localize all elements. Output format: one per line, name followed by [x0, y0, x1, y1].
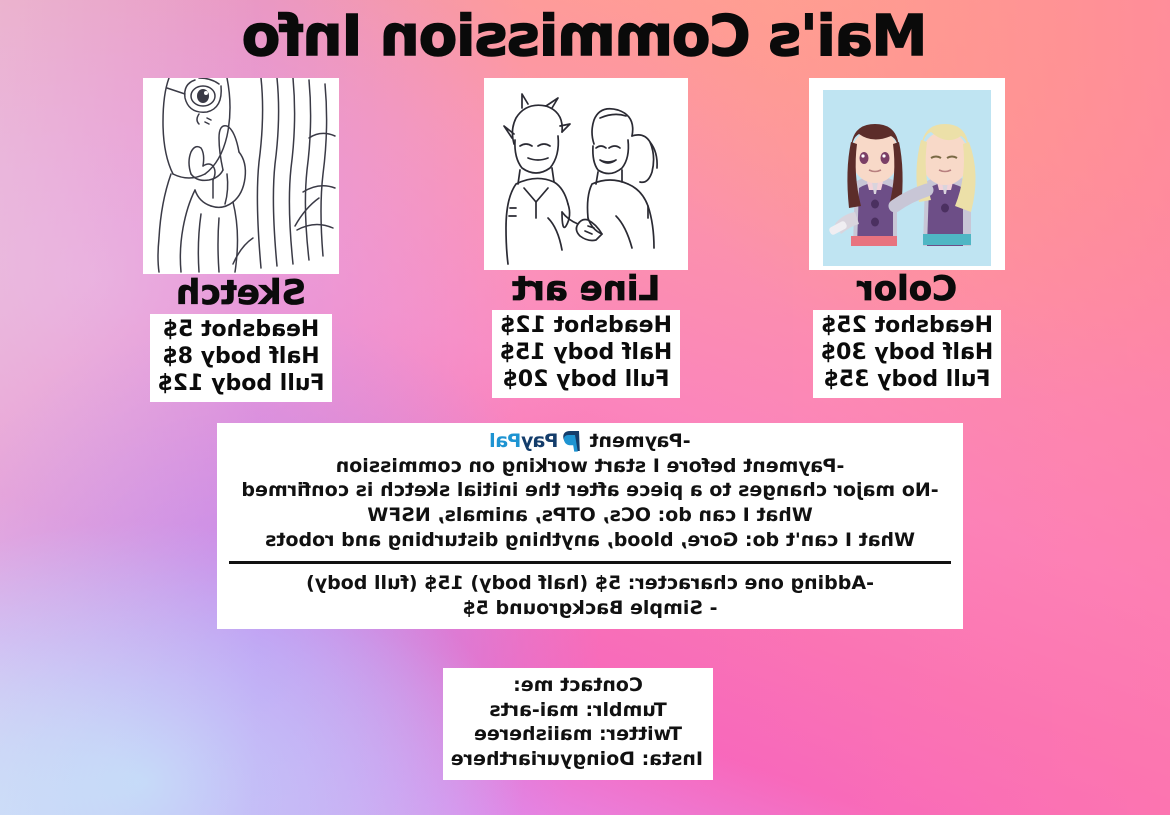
page-title: Mai's Commission Info: [0, 8, 1170, 67]
contact-twitter: Twitter: maiisheree: [453, 722, 703, 747]
price-line: Headshot 12$: [500, 313, 673, 340]
price-line: Full body 35$: [821, 367, 994, 394]
terms-line: What I can do: OCs, OTPs, animals, NSFW: [227, 503, 953, 528]
price-line: Full body 20$: [500, 367, 673, 394]
paypal-mark-icon: [561, 429, 583, 453]
tier-color-name: Color: [804, 272, 1010, 306]
terms-panel: -Payment PayPal -Payment before I start …: [217, 423, 963, 629]
paypal-logo: PayPal: [489, 429, 583, 454]
contact-panel: Contact me: Tumblr: mai-arts Twitter: ma…: [443, 668, 713, 780]
contact-tumblr: Tumblr: mai-arts: [453, 698, 703, 723]
payment-method-line: -Payment PayPal: [227, 429, 953, 454]
terms-divider: [229, 561, 951, 564]
terms-line: -Payment before I start working on commi…: [227, 454, 953, 479]
contact-instagram: Insta: Doingyuriarthere: [453, 747, 703, 772]
artwork-color: [809, 78, 1005, 270]
artwork-sketch: [143, 78, 339, 274]
tier-line-art-prices: Headshot 12$ Half body 15$ Full body 20$: [492, 310, 681, 398]
price-line: Full body 12$: [158, 371, 325, 398]
paypal-pay-text: Pay: [521, 430, 558, 452]
tier-line-art-name: Line art: [483, 272, 689, 306]
terms-line: What I can't do: Gore, blood, anything d…: [227, 528, 953, 553]
price-line: Half body 15$: [500, 340, 673, 367]
price-line: Half body 30$: [821, 340, 994, 367]
tier-sketch: Sketch Headshot 5$ Half body 8$ Full bod…: [138, 78, 344, 402]
artwork-line-art: [484, 78, 688, 270]
price-line: Half body 8$: [158, 344, 325, 371]
tier-sketch-name: Sketch: [138, 276, 344, 310]
payment-label: -Payment: [589, 429, 690, 454]
contact-heading: Contact me:: [453, 673, 703, 698]
tier-color: Color Headshot 25$ Half body 30$ Full bo…: [804, 78, 1010, 398]
commission-info-poster: Mai's Commission Info: [0, 0, 1170, 815]
price-line: Headshot 25$: [821, 313, 994, 340]
terms-line: - Simple Background 5$: [227, 596, 953, 621]
price-line: Headshot 5$: [158, 317, 325, 344]
paypal-pal-text: Pal: [489, 430, 521, 452]
tier-line-art: Line art Headshot 12$ Half body 15$ Full…: [483, 78, 689, 398]
tier-sketch-prices: Headshot 5$ Half body 8$ Full body 12$: [150, 314, 333, 402]
tier-color-prices: Headshot 25$ Half body 30$ Full body 35$: [813, 310, 1002, 398]
paypal-wordmark: PayPal: [489, 429, 558, 454]
terms-line: -Adding one character: 5$ (half body) 15…: [227, 571, 953, 596]
terms-line: -No major changes to a piece after the i…: [227, 478, 953, 503]
